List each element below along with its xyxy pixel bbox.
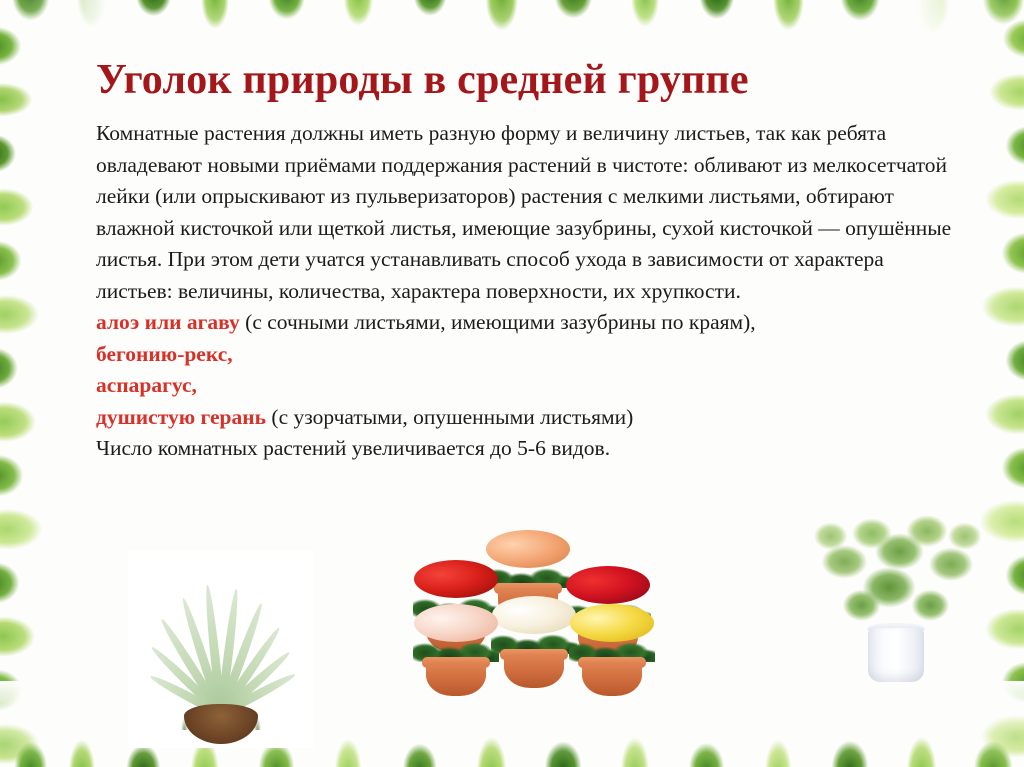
- presentation-slide: Уголок природы в средней группе Комнатны…: [0, 0, 1024, 767]
- aloe-root-ball-icon: [184, 704, 258, 744]
- plant-name-aloe: алоэ или агаву: [96, 310, 240, 334]
- plant-list-item: душистую герань (с узорчатыми, опушенным…: [96, 402, 956, 434]
- plant-name-begonia: бегонию-рекс,: [96, 342, 233, 366]
- plant-description-aloe: (с сочными листьями, имеющими зазубрины …: [240, 310, 756, 334]
- plant-list-item: аспарагус,: [96, 370, 956, 402]
- photo-begonias: [402, 528, 682, 696]
- plant-description-geranium: (с узорчатыми, опушенными листьями): [266, 405, 633, 429]
- slide-title: Уголок природы в средней группе: [96, 58, 956, 102]
- body-closing-line: Число комнатных растений увеличивается д…: [96, 433, 956, 465]
- plant-name-geranium: душистую герань: [96, 405, 266, 429]
- aloe-plant-icon: [128, 550, 314, 748]
- slide-content: Уголок природы в средней группе Комнатны…: [96, 58, 956, 465]
- asparagus-foliage-icon: [810, 508, 982, 636]
- plant-list-item: алоэ или агаву (с сочными листьями, имею…: [96, 307, 956, 339]
- photo-aloe: [128, 550, 314, 748]
- slide-body: Комнатные растения должны иметь разную ф…: [96, 118, 956, 465]
- asparagus-pot-icon: [868, 628, 924, 682]
- plant-list-item: бегонию-рекс,: [96, 339, 956, 371]
- plant-name-asparagus: аспарагус,: [96, 373, 197, 397]
- begonia-rose-icon: [406, 598, 506, 696]
- photo-asparagus: [806, 498, 986, 688]
- body-paragraph: Комнатные растения должны иметь разную ф…: [96, 118, 956, 307]
- begonia-yellow-icon: [562, 600, 662, 696]
